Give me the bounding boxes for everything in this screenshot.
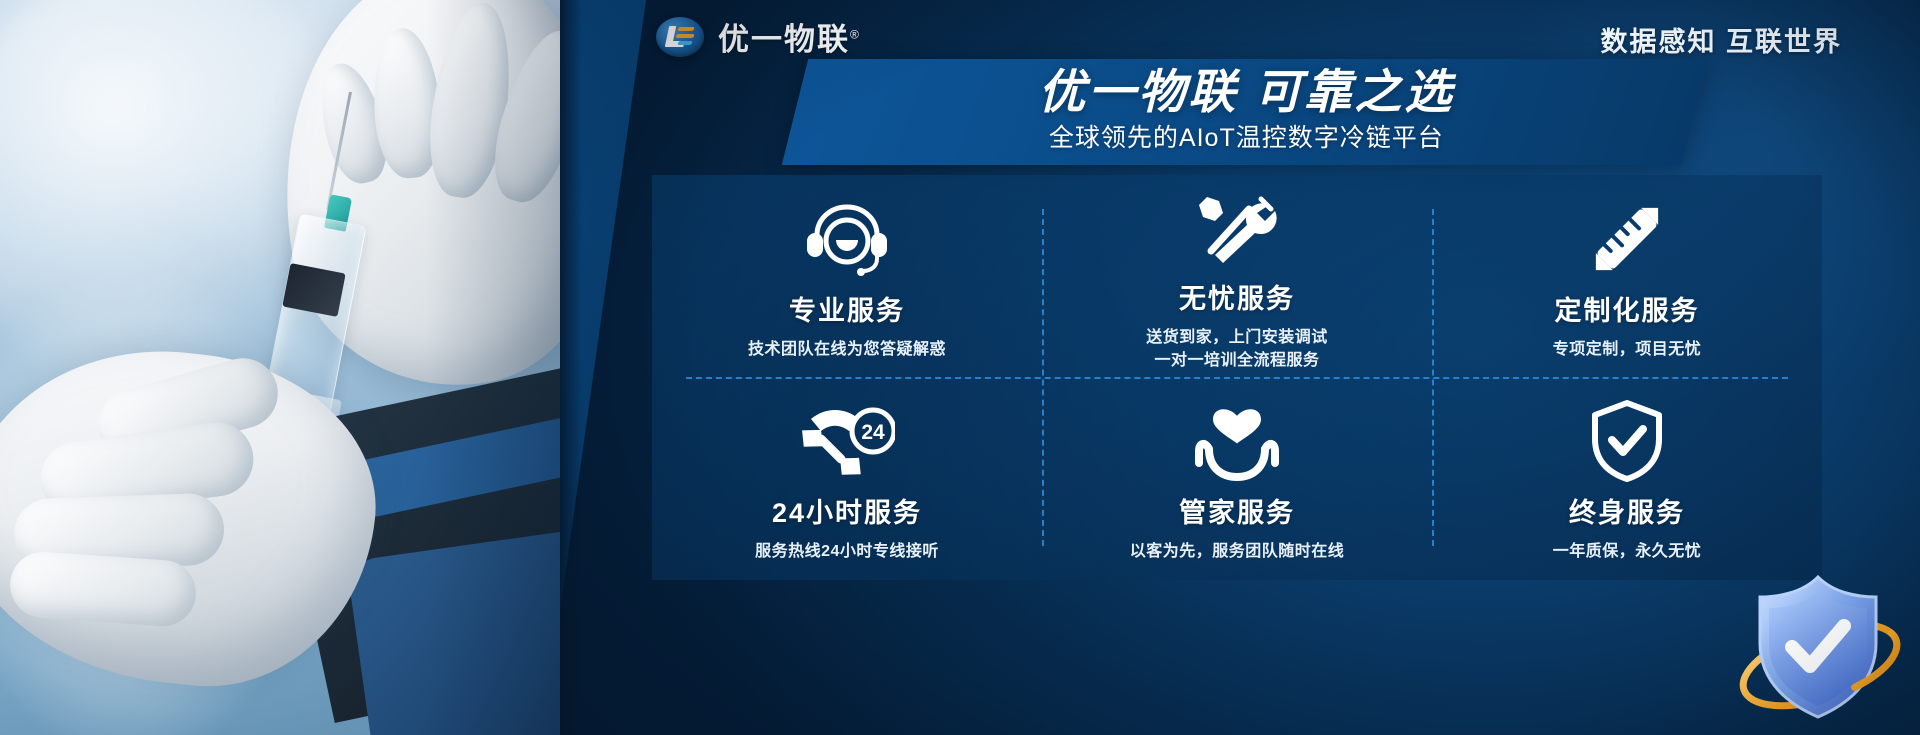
service-title: 专业服务 xyxy=(789,289,905,328)
brand-name: 优一物联® xyxy=(718,14,861,59)
service-title: 24小时服务 xyxy=(772,491,922,530)
service-card-customized[interactable]: 定制化服务 专项定制，项目无忧 xyxy=(1432,175,1822,378)
registered-mark: ® xyxy=(850,28,861,42)
service-card-professional[interactable]: 专业服务 技术团队在线为您答疑解惑 xyxy=(652,175,1042,378)
service-desc-line1: 一年质保，永久无忧 xyxy=(1553,540,1702,563)
service-card-lifetime[interactable]: 终身服务 一年质保，永久无忧 xyxy=(1432,378,1822,580)
header-slogan: 数据感知 互联世界 xyxy=(1600,20,1842,59)
service-desc-line1: 专项定制，项目无忧 xyxy=(1553,338,1702,361)
shield-check-badge-icon xyxy=(1730,561,1906,729)
service-card-butler[interactable]: 管家服务 以客为先，服务团队随时在线 xyxy=(1042,378,1432,580)
headline-subtitle: 全球领先的AIoT温控数字冷链平台 xyxy=(796,118,1696,154)
banner-stage: 优一物联® 数据感知 互联世界 优一物联 可靠之选 全球领先的AIoT温控数字冷… xyxy=(0,0,1920,735)
headline-banner: 优一物联 可靠之选 全球领先的AIoT温控数字冷链平台 xyxy=(782,59,1708,165)
headset-support-icon xyxy=(801,193,893,285)
brand-name-text: 优一物联 xyxy=(718,22,850,57)
ruler-pencil-icon xyxy=(1581,193,1673,285)
grid-divider-horizontal xyxy=(686,377,1788,379)
wrench-screwdriver-icon xyxy=(1191,181,1283,273)
service-grid: 专业服务 技术团队在线为您答疑解惑 无忧服务 xyxy=(652,175,1822,580)
service-desc: 送货到家，上门安装调试 一对一培训全流程服务 xyxy=(1146,326,1328,372)
panel-left-shade xyxy=(560,0,582,735)
service-desc: 服务热线24小时专线接听 xyxy=(755,540,939,563)
service-desc-line1: 以客为先，服务团队随时在线 xyxy=(1130,540,1345,563)
service-desc: 专项定制，项目无忧 xyxy=(1553,338,1702,361)
service-desc: 以客为先，服务团队随时在线 xyxy=(1130,540,1345,563)
content-panel: 优一物联® 数据感知 互联世界 优一物联 可靠之选 全球领先的AIoT温控数字冷… xyxy=(560,0,1920,735)
service-title: 定制化服务 xyxy=(1555,289,1700,328)
service-title: 终身服务 xyxy=(1569,491,1685,530)
service-desc-line2: 一对一培训全流程服务 xyxy=(1146,349,1328,372)
service-desc: 技术团队在线为您答疑解惑 xyxy=(748,338,946,361)
service-desc-line1: 服务热线24小时专线接听 xyxy=(755,540,939,563)
service-desc: 一年质保，永久无忧 xyxy=(1553,540,1702,563)
hero-photo xyxy=(0,0,592,735)
svg-text:24: 24 xyxy=(861,421,885,444)
brand-logo[interactable]: 优一物联® xyxy=(656,14,861,59)
service-desc-line1: 技术团队在线为您答疑解惑 xyxy=(748,338,946,361)
shield-check-icon xyxy=(1581,395,1673,487)
service-card-worryfree[interactable]: 无忧服务 送货到家，上门安装调试 一对一培训全流程服务 xyxy=(1042,175,1432,378)
service-card-24hour[interactable]: 24 24小时服务 服务热线24小时专线接听 xyxy=(652,378,1042,580)
service-title: 管家服务 xyxy=(1179,491,1295,530)
headline-title: 优一物联 可靠之选 xyxy=(796,67,1696,116)
hand-heart-icon xyxy=(1191,395,1283,487)
phone-24h-icon: 24 xyxy=(799,395,895,487)
photo-edge-shade xyxy=(0,0,592,735)
service-desc-line1: 送货到家，上门安装调试 xyxy=(1146,326,1328,349)
lf-oval-logo-icon xyxy=(656,17,704,57)
service-title: 无忧服务 xyxy=(1179,277,1295,316)
